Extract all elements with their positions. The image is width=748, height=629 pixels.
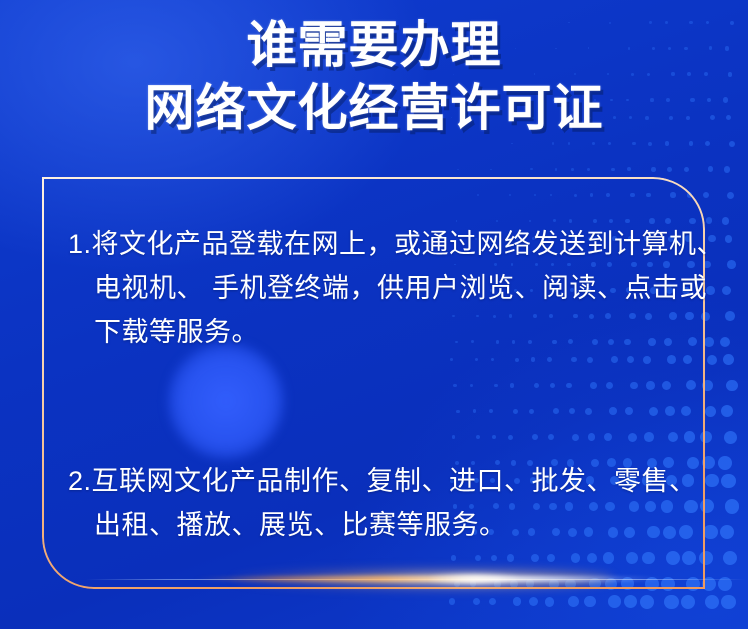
title-line-1: 谁需要办理 bbox=[0, 14, 748, 77]
poster-canvas: 谁需要办理 网络文化经营许可证 1.将文化产品登载在网上，或通过网络发送到计算机… bbox=[0, 0, 748, 629]
background-dot bbox=[489, 598, 497, 606]
divider-hotspot bbox=[429, 573, 519, 585]
background-dot bbox=[724, 431, 737, 444]
background-dot bbox=[555, 168, 557, 170]
background-dot bbox=[667, 167, 672, 172]
list-item-1-line-3: 下载等服务。 bbox=[68, 310, 687, 354]
background-dot bbox=[705, 595, 719, 609]
background-dot bbox=[665, 141, 669, 145]
background-dot bbox=[707, 355, 717, 365]
background-dot bbox=[703, 525, 717, 539]
background-dot bbox=[689, 141, 694, 146]
background-dot bbox=[584, 596, 596, 608]
divider-thin-line bbox=[86, 579, 746, 580]
background-dot bbox=[624, 595, 637, 608]
background-dot bbox=[724, 166, 730, 172]
background-dot bbox=[706, 286, 714, 294]
background-dot bbox=[721, 595, 735, 609]
background-dot bbox=[611, 168, 614, 171]
divider-outer-glow bbox=[231, 567, 614, 591]
background-dot bbox=[651, 167, 655, 171]
background-dot bbox=[490, 169, 492, 171]
background-dot bbox=[727, 260, 736, 269]
background-dot bbox=[640, 595, 654, 609]
background-dot bbox=[729, 141, 735, 147]
background-dot bbox=[720, 337, 730, 347]
list-item-1-line-1: 1.将文化产品登载在网上，或通过网络发送到计算机、 bbox=[68, 222, 687, 266]
background-dot bbox=[681, 595, 695, 609]
background-dot bbox=[511, 143, 513, 145]
background-dot bbox=[725, 311, 735, 321]
glow-divider bbox=[86, 557, 746, 603]
background-dot bbox=[705, 474, 719, 488]
background-dot bbox=[513, 597, 522, 606]
background-dot bbox=[545, 597, 555, 607]
background-dot bbox=[721, 474, 735, 488]
list-item-1-line-2: 电视机、 手机登终端，供用户浏览、阅读、点击或 bbox=[68, 266, 687, 310]
background-dot bbox=[608, 595, 621, 608]
list-item-1: 1.将文化产品登载在网上，或通过网络发送到计算机、 电视机、 手机登终端，供用户… bbox=[68, 222, 687, 354]
background-dot bbox=[721, 405, 733, 417]
background-dot bbox=[705, 406, 716, 417]
background-dot bbox=[632, 142, 636, 146]
list-item-2-line-2: 出租、播放、展览、比赛等服务。 bbox=[68, 503, 687, 547]
list-item-2-line-1: 2.互联网文化产品制作、复制、进口、批发、零售、 bbox=[68, 459, 687, 503]
background-dot bbox=[720, 525, 734, 539]
title-line-2: 网络文化经营许可证 bbox=[0, 77, 748, 140]
background-dot bbox=[587, 168, 590, 171]
background-dot bbox=[718, 456, 732, 470]
background-dot bbox=[530, 168, 532, 170]
background-dot bbox=[529, 597, 538, 606]
background-dot bbox=[705, 141, 710, 146]
background-dot bbox=[664, 595, 678, 609]
background-dot bbox=[684, 167, 689, 172]
background-dot bbox=[473, 598, 480, 605]
background-dot bbox=[571, 168, 574, 171]
background-dot bbox=[726, 380, 738, 392]
background-dot bbox=[722, 217, 729, 224]
background-dot bbox=[648, 142, 652, 146]
background-dot bbox=[552, 142, 554, 144]
background-dot bbox=[592, 142, 595, 145]
background-dot bbox=[723, 551, 737, 565]
background-dot bbox=[704, 337, 714, 347]
background-dot bbox=[706, 217, 713, 224]
background-dot bbox=[457, 169, 458, 170]
background-dot bbox=[725, 499, 739, 513]
page-title: 谁需要办理 网络文化经营许可证 bbox=[0, 14, 748, 140]
background-dot bbox=[725, 235, 733, 243]
background-dot bbox=[718, 577, 732, 591]
background-dot bbox=[723, 354, 734, 365]
background-dot bbox=[568, 142, 570, 144]
background-dot bbox=[722, 286, 731, 295]
background-dot bbox=[608, 142, 611, 145]
background-dot bbox=[727, 192, 734, 199]
background-dot bbox=[627, 167, 631, 171]
divider-core-streak bbox=[192, 576, 667, 582]
content-card: 1.将文化产品登载在网上，或通过网络发送到计算机、 电视机、 手机登终端，供用户… bbox=[42, 177, 705, 589]
background-dot bbox=[449, 598, 455, 604]
background-dot bbox=[568, 596, 579, 607]
list-item-2: 2.互联网文化产品制作、复制、进口、批发、零售、 出租、播放、展览、比赛等服务。 bbox=[68, 459, 687, 547]
background-dot bbox=[708, 166, 714, 172]
